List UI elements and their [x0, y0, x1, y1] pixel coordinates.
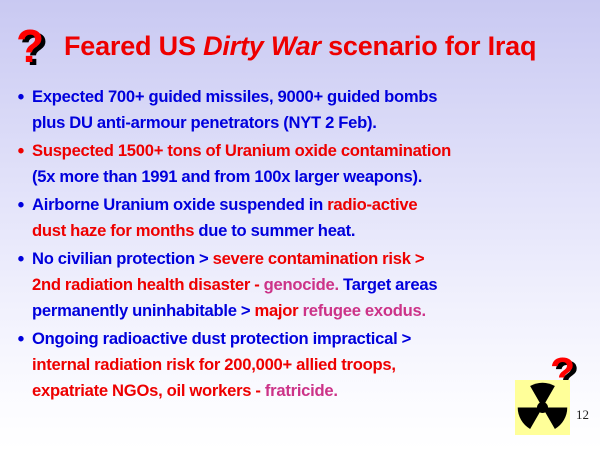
list-item: • Airborne Uranium oxide suspended in ra… — [10, 192, 592, 244]
slide-title-row: ? ? Feared US Dirty War scenario for Ira… — [0, 18, 600, 74]
text-segment: 2nd radiation health disaster - — [32, 275, 264, 294]
text-segment: Expected 700+ guided missiles, 9000+ gui… — [32, 87, 437, 106]
list-item-text: No civilian protection > severe contamin… — [32, 246, 592, 324]
text-segment: major — [254, 301, 302, 320]
page-number: 12 — [576, 407, 589, 423]
text-segment: fratricide. — [265, 381, 338, 400]
question-mark-icon: ? ? — [14, 23, 58, 69]
text-segment: dust haze for months — [32, 221, 194, 240]
list-item-text: Expected 700+ guided missiles, 9000+ gui… — [32, 84, 592, 136]
text-segment: (5x more than 1991 and from 100x larger … — [32, 167, 422, 186]
title-part-3: scenario for Iraq — [321, 31, 536, 61]
list-item: • Expected 700+ guided missiles, 9000+ g… — [10, 84, 592, 136]
bullet-line: Expected 700+ guided missiles, 9000+ gui… — [32, 84, 592, 110]
slide: ? ? Feared US Dirty War scenario for Ira… — [0, 0, 600, 450]
text-segment: plus DU anti-armour penetrators (NYT 2 F… — [32, 113, 377, 132]
bullet-line: expatriate NGOs, oil workers - fratricid… — [32, 378, 592, 404]
bullet-line: Airborne Uranium oxide suspended in radi… — [32, 192, 592, 218]
list-item: • Ongoing radioactive dust protection im… — [10, 326, 592, 404]
bullet-line: Ongoing radioactive dust protection impr… — [32, 326, 592, 352]
bullet-marker-icon: • — [10, 84, 32, 112]
title-part-2-italic: Dirty War — [203, 31, 321, 61]
bullet-marker-icon: • — [10, 326, 32, 354]
text-segment: permanently uninhabitable > — [32, 301, 254, 320]
list-item-text: Airborne Uranium oxide suspended in radi… — [32, 192, 592, 244]
page-title: Feared US Dirty War scenario for Iraq — [64, 31, 536, 62]
bullet-line: permanently uninhabitable > major refuge… — [32, 298, 592, 324]
radiation-trefoil-icon — [515, 380, 570, 435]
text-segment: Ongoing radioactive dust protection impr… — [32, 329, 411, 348]
bullet-marker-icon: • — [10, 138, 32, 166]
list-item: • Suspected 1500+ tons of Uranium oxide … — [10, 138, 592, 190]
bullet-marker-icon: • — [10, 192, 32, 220]
text-segment: genocide. — [264, 275, 339, 294]
bullet-line: No civilian protection > severe contamin… — [32, 246, 592, 272]
text-segment: due to summer heat. — [194, 221, 355, 240]
question-mark-glyph: ? — [16, 23, 44, 69]
list-item-text: Ongoing radioactive dust protection impr… — [32, 326, 592, 404]
radiation-badge-group: ? ? 12 — [512, 352, 600, 448]
list-item: • No civilian protection > severe contam… — [10, 246, 592, 324]
bullet-line: Suspected 1500+ tons of Uranium oxide co… — [32, 138, 592, 164]
text-segment: refugee exodus. — [303, 301, 426, 320]
bullet-list: • Expected 700+ guided missiles, 9000+ g… — [10, 84, 592, 406]
bullet-line: 2nd radiation health disaster - genocide… — [32, 272, 592, 298]
text-segment: expatriate NGOs, oil workers - — [32, 381, 265, 400]
text-segment: Suspected 1500+ tons of Uranium oxide co… — [32, 141, 451, 160]
bullet-line: (5x more than 1991 and from 100x larger … — [32, 164, 592, 190]
text-segment: internal radiation risk for 200,000+ all… — [32, 355, 396, 374]
bullet-line: internal radiation risk for 200,000+ all… — [32, 352, 592, 378]
list-item-text: Suspected 1500+ tons of Uranium oxide co… — [32, 138, 592, 190]
text-segment: Target areas — [339, 275, 437, 294]
text-segment: No civilian protection > — [32, 249, 213, 268]
text-segment: radio-active — [327, 195, 417, 214]
text-segment: Airborne Uranium oxide suspended in — [32, 195, 327, 214]
text-segment: severe contamination risk > — [213, 249, 425, 268]
radiation-trefoil-svg — [515, 380, 570, 435]
bullet-line: dust haze for months due to summer heat. — [32, 218, 592, 244]
title-part-1: Feared US — [64, 31, 203, 61]
bullet-marker-icon: • — [10, 246, 32, 274]
bullet-line: plus DU anti-armour penetrators (NYT 2 F… — [32, 110, 592, 136]
